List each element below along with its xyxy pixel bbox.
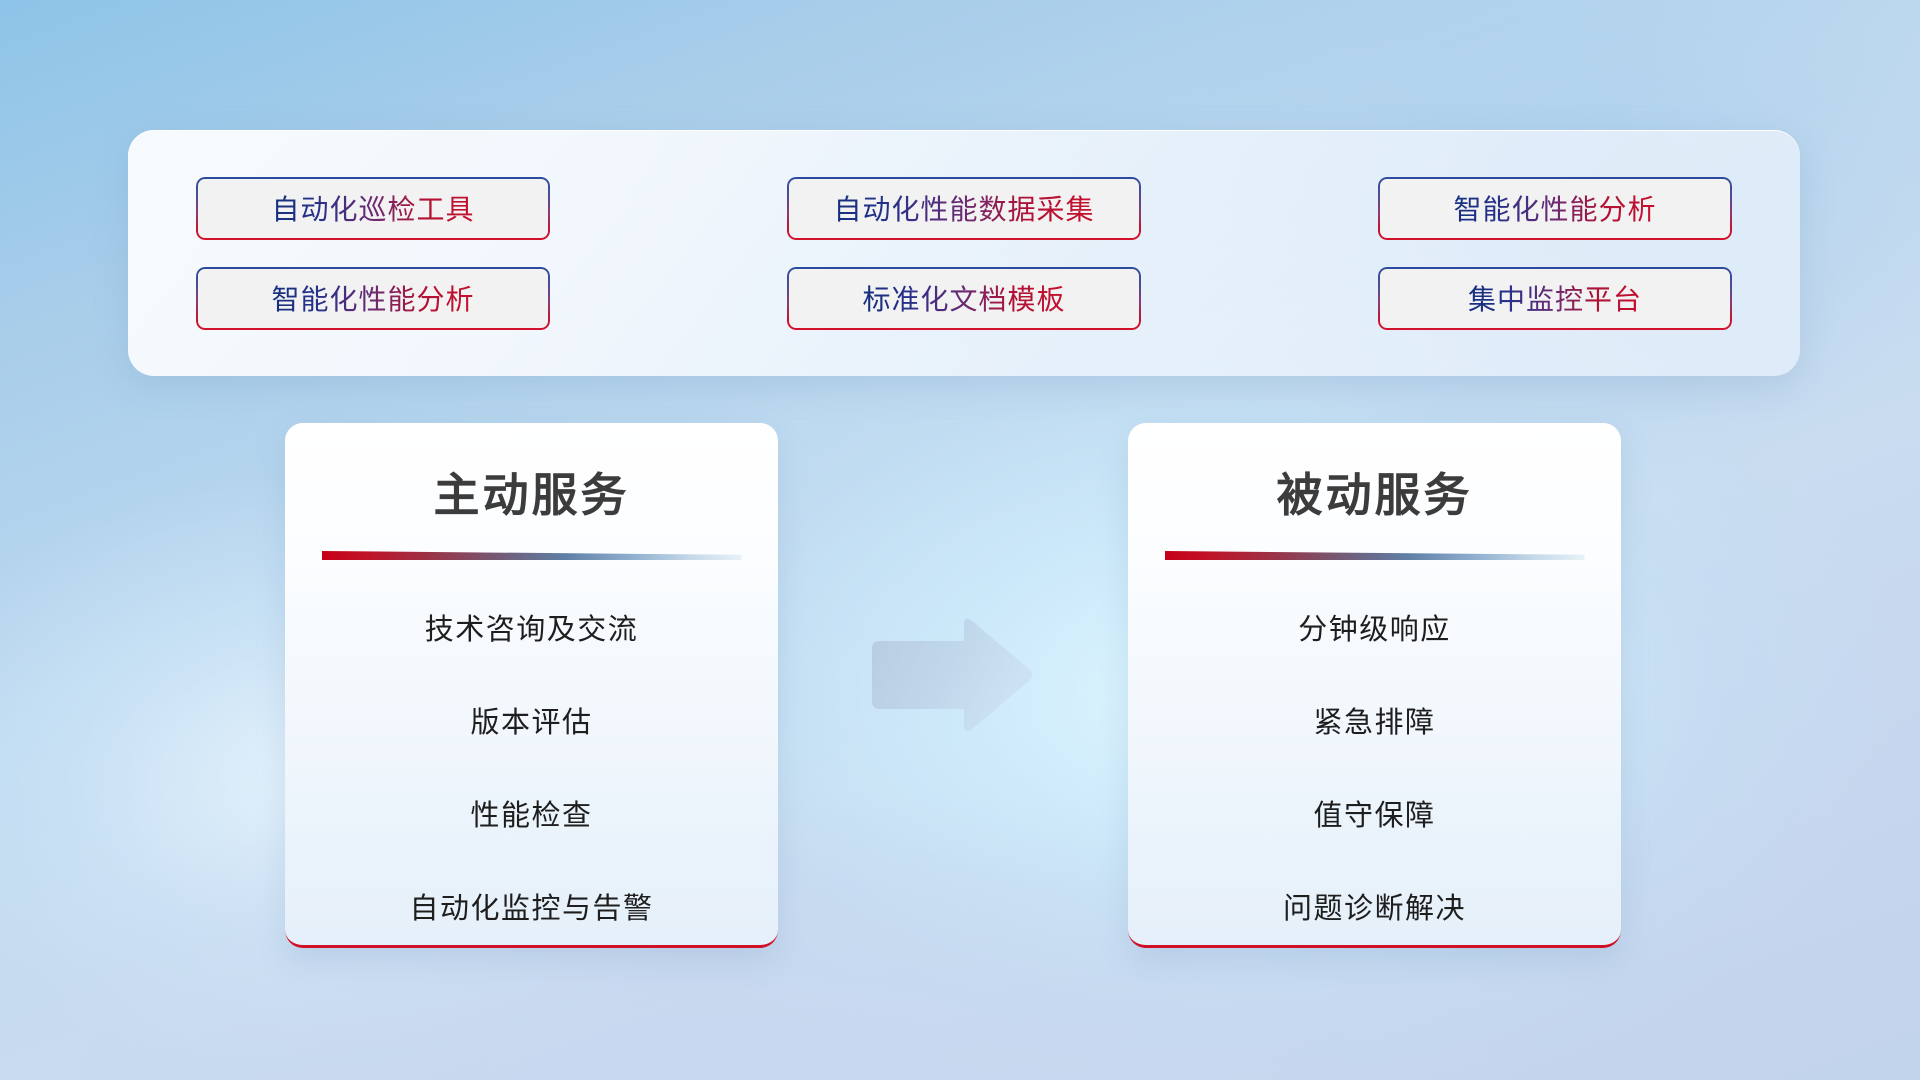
list-item: 自动化监控与告警 [285, 883, 778, 936]
capability-pill-label: 集中监控平台 [1468, 278, 1642, 318]
list-item: 版本评估 [285, 697, 778, 750]
card-title: 被动服务 [1128, 459, 1621, 525]
capability-pill-label: 智能化性能分析 [271, 278, 474, 318]
list-item: 分钟级响应 [1128, 604, 1621, 657]
capability-pill-centralized-monitoring-platform[interactable]: 集中监控平台 [1378, 267, 1732, 330]
list-item: 值守保障 [1128, 790, 1621, 843]
capability-pill-intelligent-performance-analysis[interactable]: 智能化性能分析 [1378, 177, 1732, 240]
list-item: 紧急排障 [1128, 697, 1621, 750]
arrow-right-icon [866, 615, 1036, 735]
capabilities-panel: 自动化巡检工具 自动化性能数据采集 智能化性能分析 智能化性能分析 标准化文档模… [128, 130, 1800, 376]
card-item-list: 技术咨询及交流 版本评估 性能检查 自动化监控与告警 健康巡检 [285, 604, 778, 948]
list-item: 问题诊断解决 [1128, 883, 1621, 936]
capability-pill-automation-inspection-tool[interactable]: 自动化巡检工具 [196, 177, 550, 240]
list-item: 性能检查 [285, 790, 778, 843]
capability-pill-label: 自动化性能数据采集 [833, 188, 1094, 228]
card-title-divider [1165, 551, 1585, 560]
service-card-proactive: 主动服务 技术咨询及交流 版本评估 性能检查 自动化监控与告警 健康巡检 [285, 423, 778, 948]
service-card-reactive: 被动服务 分钟级响应 紧急排障 值守保障 问题诊断解决 SLA式服务 [1128, 423, 1621, 948]
capability-pill-label: 自动化巡检工具 [271, 188, 474, 228]
card-title: 主动服务 [285, 459, 778, 525]
capability-pill-automation-performance-data-collection[interactable]: 自动化性能数据采集 [787, 177, 1141, 240]
list-item: 技术咨询及交流 [285, 604, 778, 657]
capability-pill-intelligent-performance-analysis-2[interactable]: 智能化性能分析 [196, 267, 550, 330]
capabilities-row-1: 自动化巡检工具 自动化性能数据采集 智能化性能分析 [196, 177, 1732, 240]
capability-pill-label: 智能化性能分析 [1453, 188, 1656, 228]
capability-pill-label: 标准化文档模板 [862, 278, 1065, 318]
capability-pill-standardized-document-template[interactable]: 标准化文档模板 [787, 267, 1141, 330]
card-item-list: 分钟级响应 紧急排障 值守保障 问题诊断解决 SLA式服务 [1128, 604, 1621, 948]
capabilities-row-2: 智能化性能分析 标准化文档模板 集中监控平台 [196, 267, 1732, 330]
card-title-divider [322, 551, 742, 560]
